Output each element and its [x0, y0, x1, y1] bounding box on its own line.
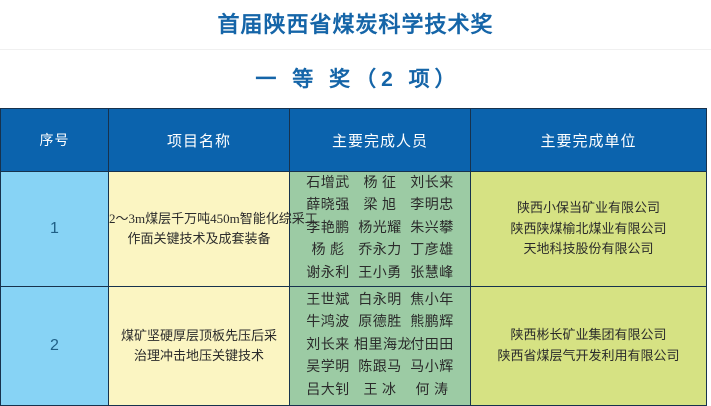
unit-line: 陕西小保当矿业有限公司	[471, 198, 706, 219]
cell-index: 1	[1, 172, 109, 287]
people-line: 刘长来相里海龙付田田	[290, 335, 470, 357]
person-name: 王 冰	[354, 380, 406, 402]
award-level-bar: 一 等 奖（2 项）	[0, 50, 711, 108]
person-name: 吕大钊	[302, 380, 354, 402]
person-name: 梁 旭	[354, 195, 406, 217]
people-line: 牛鸿波原德胜熊鹏辉	[290, 312, 470, 334]
person-name: 李艳鹏	[302, 218, 354, 240]
person-name: 刘长来	[302, 335, 354, 357]
table-body: 12～3m煤层千万吨450m智能化综采工作面关键技术及成套装备石增武杨 征刘长来…	[1, 172, 707, 406]
person-name: 付田田	[406, 335, 458, 357]
cell-index: 2	[1, 287, 109, 406]
table-row: 2煤矿坚硬厚层顶板先压后采治理冲击地压关键技术王世斌白永明焦小年牛鸿波原德胜熊鹏…	[1, 287, 707, 406]
person-name: 王世斌	[302, 290, 354, 312]
person-name: 张慧峰	[406, 263, 458, 285]
document-title-bar: 首届陕西省煤炭科学技术奖	[0, 0, 711, 50]
cell-project-name: 煤矿坚硬厚层顶板先压后采治理冲击地压关键技术	[109, 287, 290, 406]
table-row: 12～3m煤层千万吨450m智能化综采工作面关键技术及成套装备石增武杨 征刘长来…	[1, 172, 707, 287]
people-line: 杨 彪乔永力丁彦雄	[290, 240, 470, 262]
column-header-index: 序号	[1, 109, 109, 172]
page-title: 首届陕西省煤炭科学技术奖	[217, 14, 493, 36]
person-name: 薛晓强	[302, 195, 354, 217]
person-name: 李明忠	[406, 195, 458, 217]
person-name: 马小辉	[406, 357, 458, 379]
person-name: 刘长来	[406, 173, 458, 195]
unit-line: 陕西陕煤榆北煤业有限公司	[471, 219, 706, 240]
person-name: 白永明	[354, 290, 406, 312]
person-name: 原德胜	[354, 312, 406, 334]
award-winners-table: 序号 项目名称 主要完成人员 主要完成单位 12～3m煤层千万吨450m智能化综…	[0, 108, 707, 406]
project-name-line: 煤矿坚硬厚层顶板先压后采	[109, 326, 289, 346]
column-header-project-name: 项目名称	[109, 109, 290, 172]
unit-line: 陕西省煤层气开发利用有限公司	[471, 346, 706, 367]
person-name: 相里海龙	[354, 335, 406, 357]
person-name: 丁彦雄	[406, 240, 458, 262]
project-name-line: 作面关键技术及成套装备	[109, 229, 289, 249]
person-name: 吴学明	[302, 357, 354, 379]
cell-units: 陕西小保当矿业有限公司陕西陕煤榆北煤业有限公司天地科技股份有限公司	[471, 172, 707, 287]
people-line: 石增武杨 征刘长来	[290, 173, 470, 195]
person-name: 杨 征	[354, 173, 406, 195]
column-header-people: 主要完成人员	[290, 109, 471, 172]
cell-people: 王世斌白永明焦小年牛鸿波原德胜熊鹏辉刘长来相里海龙付田田吴学明陈跟马马小辉吕大钊…	[290, 287, 471, 406]
person-name: 石增武	[302, 173, 354, 195]
person-name: 杨光耀	[354, 218, 406, 240]
cell-people: 石增武杨 征刘长来薛晓强梁 旭李明忠李艳鹏杨光耀朱兴攀杨 彪乔永力丁彦雄谢永利王…	[290, 172, 471, 287]
person-name: 熊鹏辉	[406, 312, 458, 334]
project-name-line: 治理冲击地压关键技术	[109, 346, 289, 366]
person-name: 王小勇	[354, 263, 406, 285]
people-line: 李艳鹏杨光耀朱兴攀	[290, 218, 470, 240]
project-name-line: 2～3m煤层千万吨450m智能化综采工	[109, 209, 289, 229]
person-name: 焦小年	[406, 290, 458, 312]
people-line: 王世斌白永明焦小年	[290, 290, 470, 312]
person-name: 陈跟马	[354, 357, 406, 379]
unit-line: 天地科技股份有限公司	[471, 239, 706, 260]
person-name: 牛鸿波	[302, 312, 354, 334]
people-line: 谢永利王小勇张慧峰	[290, 263, 470, 285]
unit-line: 陕西彬长矿业集团有限公司	[471, 325, 706, 346]
person-name: 何 涛	[406, 380, 458, 402]
person-name: 杨 彪	[302, 240, 354, 262]
cell-project-name: 2～3m煤层千万吨450m智能化综采工作面关键技术及成套装备	[109, 172, 290, 287]
people-line: 薛晓强梁 旭李明忠	[290, 195, 470, 217]
person-name: 朱兴攀	[406, 218, 458, 240]
column-header-units: 主要完成单位	[471, 109, 707, 172]
people-line: 吴学明陈跟马马小辉	[290, 357, 470, 379]
cell-units: 陕西彬长矿业集团有限公司陕西省煤层气开发利用有限公司	[471, 287, 707, 406]
person-name: 乔永力	[354, 240, 406, 262]
people-line: 吕大钊王 冰何 涛	[290, 380, 470, 402]
person-name: 谢永利	[302, 263, 354, 285]
table-header-row: 序号 项目名称 主要完成人员 主要完成单位	[1, 109, 707, 172]
award-level-subtitle: 一 等 奖（2 项）	[250, 69, 460, 90]
